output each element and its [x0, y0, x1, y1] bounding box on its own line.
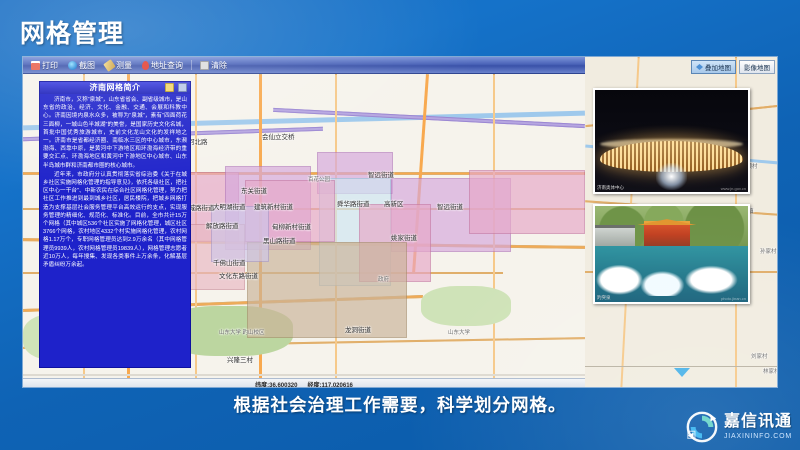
- toolbar-label-clear: 清除: [211, 60, 227, 71]
- chevron-down-icon[interactable]: [674, 368, 690, 377]
- photo-caption: 趵突泉: [597, 295, 611, 301]
- toolbar-button-clear[interactable]: 清除: [196, 60, 231, 71]
- map-label: 龙洞街道: [345, 324, 371, 334]
- page-title: 网格管理: [20, 14, 124, 50]
- olympic-stadium-night-photo[interactable]: 济南奥体中心 www.jn.gov.cn: [593, 88, 750, 194]
- baotu-spring-photo[interactable]: 趵突泉 photo.jinan.cn: [593, 204, 750, 304]
- eraser-icon: [200, 61, 209, 70]
- right-pane-toolbar: 叠加地图 影像地图: [691, 60, 775, 74]
- latitude-readout: 纬度:36.600320: [255, 380, 297, 389]
- map-label: 解放路街道: [206, 220, 239, 230]
- camera-icon: [68, 61, 77, 70]
- map-label: 智远街道: [368, 169, 394, 179]
- right-pane[interactable]: 西蒋石台村岭顶村刘家村彩石镇林家村孙家村 叠加地图 影像地图 济南奥体中心 ww…: [585, 57, 778, 388]
- photo-building: [595, 225, 635, 248]
- map-label: 东关街道: [241, 185, 267, 195]
- print-icon: [31, 61, 40, 70]
- toolbar-label-print: 打印: [42, 60, 58, 71]
- layers-icon: [696, 64, 703, 70]
- lock-icon[interactable]: [165, 83, 174, 92]
- satellite-map-label: 影像地图: [744, 62, 770, 72]
- toolbar-button-measure[interactable]: 测量: [101, 60, 136, 71]
- photo-sky: [595, 90, 748, 141]
- map-pin-icon: [142, 61, 149, 70]
- map-toolbar: 打印 截图 测量 地址查询 清除: [23, 57, 585, 74]
- brand-name-cn: 嘉信讯通: [724, 414, 792, 430]
- map-label: 黑山路街道: [263, 235, 296, 245]
- brand-logo: 嘉信讯通 JIAXININFO.COM: [685, 410, 792, 444]
- toolbar-button-screenshot[interactable]: 截图: [64, 60, 99, 71]
- map-label: 政府: [378, 275, 389, 283]
- map-label: 姚家街道: [391, 232, 417, 242]
- close-icon[interactable]: [178, 83, 187, 92]
- overlay-map-button[interactable]: 叠加地图: [691, 60, 736, 74]
- map-green-area: [421, 286, 511, 326]
- map-road: [23, 374, 585, 376]
- map-label: 大明湖街道: [213, 201, 246, 211]
- info-panel-body: 济南市，又称“泉城”，山东省省会、副省级城市，是山东省的政治、经济、文化、金融、…: [40, 94, 190, 272]
- map-label: 山东大学 趵山校区: [219, 328, 265, 336]
- map-label: 文化东路街道: [219, 270, 258, 280]
- map-label: 兴隆三村: [227, 354, 253, 364]
- map-pane[interactable]: 打印 截图 测量 地址查询 清除: [23, 57, 585, 388]
- district-polygon[interactable]: [247, 242, 407, 338]
- photo-light-glow: [656, 163, 687, 190]
- map-label: 刘家村: [751, 352, 768, 360]
- map-label: 智远街道: [437, 201, 463, 211]
- toolbar-button-print[interactable]: 打印: [27, 60, 62, 71]
- map-label: 百花公园: [308, 175, 330, 183]
- district-polygon[interactable]: [469, 170, 585, 234]
- ruler-icon: [103, 59, 116, 72]
- refresh-circle-logo-icon: [685, 410, 719, 444]
- toolbar-button-address-search[interactable]: 地址查询: [138, 60, 187, 71]
- right-pane-divider: [585, 366, 778, 367]
- map-label: 孙家村: [760, 247, 777, 255]
- satellite-map-button[interactable]: 影像地图: [739, 60, 775, 74]
- longitude-readout: 经度:117.020616: [308, 380, 353, 389]
- toolbar-label-screenshot: 截图: [79, 60, 95, 71]
- map-label: 高新区: [384, 198, 404, 208]
- toolbar-label-address-search: 地址查询: [151, 60, 183, 71]
- map-label: 会仙立交桥: [262, 131, 295, 141]
- slide-caption: 根据社会治理工作需要，科学划分网格。: [0, 392, 800, 417]
- map-status-bar: 纬度:36.600320 经度:117.020616: [23, 378, 585, 388]
- info-panel[interactable]: 济南网格简介 济南市，又称“泉城”，山东省省会、副省级城市，是山东省的政治、经济…: [39, 81, 191, 368]
- map-label: 建筑新村街道: [254, 201, 293, 211]
- toolbar-divider: [191, 60, 192, 70]
- info-paragraph-2: 近年来，市政府分认真贯彻落实省综治委《关于在城乡社区实施网格化管理的指导意见》，…: [43, 171, 187, 269]
- map-label: 甸柳新村街道: [272, 221, 311, 231]
- map-label: 林家村: [763, 367, 778, 375]
- photo-spring-foam: [595, 260, 748, 296]
- toolbar-label-measure: 测量: [116, 60, 132, 71]
- map-label: 舜华路街道: [337, 198, 370, 208]
- map-label: 千佛山街道: [213, 257, 246, 267]
- map-label: 山东大学: [448, 328, 470, 336]
- brand-name-en: JIAXININFO.COM: [724, 433, 792, 440]
- photo-pavilion: [644, 221, 690, 248]
- brand-text: 嘉信讯通 JIAXININFO.COM: [724, 414, 792, 440]
- gis-application-window: 打印 截图 测量 地址查询 清除: [22, 56, 778, 388]
- info-paragraph-1: 济南市，又称“泉城”，山东省省会、副省级城市，是山东省的政治、经济、文化、金融、…: [43, 96, 187, 170]
- photo-watermark: www.jn.gov.cn: [721, 186, 746, 191]
- photo-caption: 济南奥体中心: [597, 185, 624, 191]
- overlay-map-label: 叠加地图: [705, 62, 731, 72]
- photo-watermark: photo.jinan.cn: [721, 296, 746, 301]
- district-polygon[interactable]: [211, 206, 269, 262]
